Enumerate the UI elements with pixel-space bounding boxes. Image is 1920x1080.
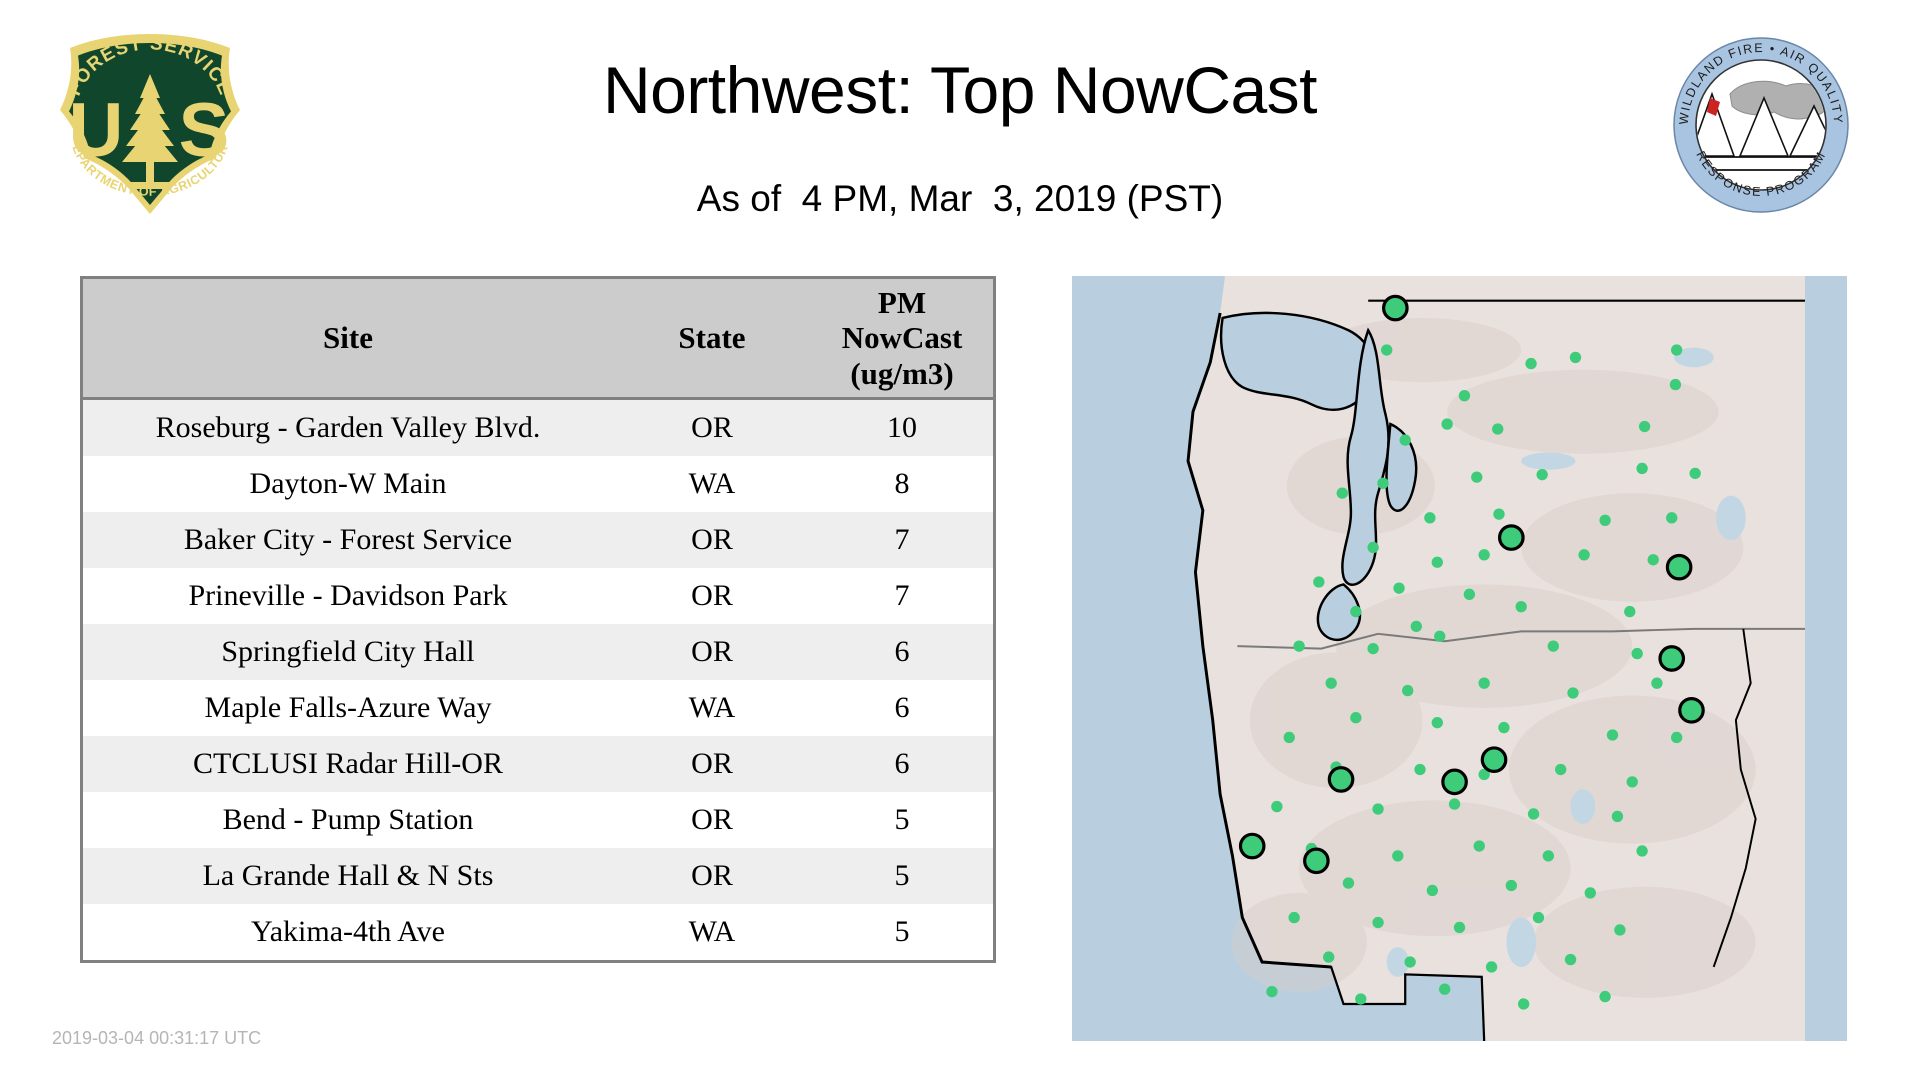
- map-monitor-dot: [1498, 722, 1509, 733]
- map-monitor-dot: [1381, 344, 1392, 355]
- cell-site: CTCLUSI Radar Hill-OR: [83, 736, 613, 792]
- map-monitor-dot: [1493, 508, 1504, 519]
- map-monitor-dot: [1434, 631, 1445, 642]
- map-monitor-dot: [1636, 463, 1647, 474]
- map-monitor-dot: [1459, 390, 1470, 401]
- cell-pm-nowcast: 5: [811, 848, 993, 904]
- map-monitor-dot: [1337, 487, 1348, 498]
- table-row: Dayton-W MainWA8: [83, 456, 993, 512]
- map-monitor-dot: [1567, 687, 1578, 698]
- map-top-site-marker[interactable]: Bend - Pump Station: [1443, 770, 1466, 793]
- map-top-site-marker[interactable]: Roseburg - Garden Valley Blvd.: [1305, 849, 1328, 872]
- map-monitor-dot: [1612, 811, 1623, 822]
- cell-pm-nowcast: 6: [811, 680, 993, 736]
- map-monitor-dot: [1427, 885, 1438, 896]
- map-monitor-dot: [1518, 998, 1529, 1009]
- map-top-site-marker[interactable]: La Grande Hall & N Sts: [1660, 647, 1683, 670]
- map-monitor-dot: [1367, 643, 1378, 654]
- map-monitor-dot: [1372, 803, 1383, 814]
- northwest-monitor-map: Maple Falls-Azure WayYakima-4th AveDayto…: [1072, 276, 1847, 1041]
- map-monitor-dot: [1288, 912, 1299, 923]
- map-monitor-dot: [1525, 358, 1536, 369]
- map-monitor-dot: [1284, 732, 1295, 743]
- map-monitor-dot: [1599, 991, 1610, 1002]
- table-row: Bend - Pump StationOR5: [83, 792, 993, 848]
- cell-state: WA: [613, 680, 811, 736]
- map-top-site-marker[interactable]: Springfield City Hall: [1329, 768, 1352, 791]
- map-monitor-dot: [1464, 589, 1475, 600]
- cell-site: Dayton-W Main: [83, 456, 613, 512]
- table-header-row: Site State PM NowCast (ug/m3): [83, 279, 993, 399]
- map-monitor-dot: [1402, 685, 1413, 696]
- cell-state: WA: [613, 456, 811, 512]
- page-title: Northwest: Top NowCast: [300, 52, 1620, 128]
- cell-state: WA: [613, 904, 811, 960]
- map-monitor-dot: [1666, 512, 1677, 523]
- map-monitor-dot: [1350, 712, 1361, 723]
- map-monitor-dot: [1565, 954, 1576, 965]
- cell-site: Baker City - Forest Service: [83, 512, 613, 568]
- cell-state: OR: [613, 399, 811, 457]
- cell-state: OR: [613, 848, 811, 904]
- map-monitor-dot: [1670, 379, 1681, 390]
- table-header: Site State PM NowCast (ug/m3): [83, 279, 993, 399]
- cell-site: La Grande Hall & N Sts: [83, 848, 613, 904]
- cell-pm-nowcast: 5: [811, 904, 993, 960]
- map-monitor-dot: [1432, 557, 1443, 568]
- column-header-pm-nowcast: PM NowCast (ug/m3): [811, 279, 993, 399]
- map-monitor-dot: [1424, 512, 1435, 523]
- map-top-site-marker[interactable]: Maple Falls-Azure Way: [1384, 296, 1407, 319]
- map-monitor-dot: [1454, 922, 1465, 933]
- cell-site: Roseburg - Garden Valley Blvd.: [83, 399, 613, 457]
- map-monitor-dot: [1313, 576, 1324, 587]
- map-monitor-dot: [1536, 469, 1547, 480]
- map-monitor-dot: [1414, 764, 1425, 775]
- map-top-site-marker[interactable]: Baker City - Forest Service: [1680, 699, 1703, 722]
- top-nowcast-table-panel: Site State PM NowCast (ug/m3) Roseburg -…: [80, 276, 996, 963]
- cell-state: OR: [613, 792, 811, 848]
- map-monitor-dot: [1392, 850, 1403, 861]
- table-row: Maple Falls-Azure WayWA6: [83, 680, 993, 736]
- map-monitor-dot: [1516, 601, 1527, 612]
- map-top-site-marker[interactable]: CTCLUSI Radar Hill-OR: [1240, 834, 1263, 857]
- map-monitor-dot: [1293, 640, 1304, 651]
- map-monitor-dot: [1271, 801, 1282, 812]
- map-monitor-dot: [1474, 840, 1485, 851]
- map-monitor-dot: [1471, 471, 1482, 482]
- column-header-pm-line3: (ug/m3): [811, 356, 993, 391]
- cell-site: Maple Falls-Azure Way: [83, 680, 613, 736]
- map-monitor-dot: [1372, 917, 1383, 928]
- cell-pm-nowcast: 8: [811, 456, 993, 512]
- map-monitor-dot: [1486, 961, 1497, 972]
- table-row: CTCLUSI Radar Hill-OROR6: [83, 736, 993, 792]
- map-monitor-dot: [1671, 344, 1682, 355]
- map-monitor-dot: [1367, 542, 1378, 553]
- map-monitor-dot: [1651, 678, 1662, 689]
- map-monitor-dot: [1439, 984, 1450, 995]
- map-monitor-dot: [1350, 606, 1361, 617]
- map-monitor-dot: [1671, 732, 1682, 743]
- map-monitor-dot: [1355, 993, 1366, 1004]
- map-monitor-dot: [1555, 764, 1566, 775]
- map-top-site-marker[interactable]: Yakima-4th Ave: [1500, 526, 1523, 549]
- cell-state: OR: [613, 568, 811, 624]
- map-monitor-dot: [1404, 956, 1415, 967]
- map-monitor-dot: [1411, 621, 1422, 632]
- page-subtitle: As of 4 PM, Mar 3, 2019 (PST): [300, 178, 1620, 220]
- map-monitor-dot: [1479, 549, 1490, 560]
- map-monitor-dot: [1400, 434, 1411, 445]
- cell-pm-nowcast: 10: [811, 399, 993, 457]
- map-top-site-marker[interactable]: Prineville - Davidson Park: [1482, 748, 1505, 771]
- map-monitor-dot: [1639, 421, 1650, 432]
- cell-state: OR: [613, 736, 811, 792]
- cell-pm-nowcast: 6: [811, 736, 993, 792]
- map-monitor-dot: [1533, 912, 1544, 923]
- map-monitor-dot: [1479, 678, 1490, 689]
- column-header-pm-line2: NowCast: [811, 320, 993, 355]
- map-monitor-dot: [1449, 798, 1460, 809]
- map-monitor-dot: [1607, 729, 1618, 740]
- cell-state: OR: [613, 512, 811, 568]
- table-row: Yakima-4th AveWA5: [83, 904, 993, 960]
- map-monitor-dot: [1441, 418, 1452, 429]
- map-monitor-dot: [1689, 468, 1700, 479]
- cell-pm-nowcast: 5: [811, 792, 993, 848]
- cell-state: OR: [613, 624, 811, 680]
- table-row: Baker City - Forest ServiceOR7: [83, 512, 993, 568]
- column-header-site: Site: [83, 279, 613, 399]
- cell-pm-nowcast: 7: [811, 512, 993, 568]
- map-monitor-dot: [1624, 606, 1635, 617]
- wildland-fire-air-quality-seal-icon: WILDLAND FIRE • AIR QUALITY RESPONSE PRO…: [1672, 36, 1850, 214]
- map-monitor-dot: [1543, 850, 1554, 861]
- map-monitor-dot: [1377, 478, 1388, 489]
- table-row: Prineville - Davidson ParkOR7: [83, 568, 993, 624]
- map-monitor-dot: [1492, 423, 1503, 434]
- map-monitor-dot: [1614, 924, 1625, 935]
- column-header-state: State: [613, 279, 811, 399]
- map-monitor-dot: [1343, 877, 1354, 888]
- cell-site: Springfield City Hall: [83, 624, 613, 680]
- map-monitor-dot: [1632, 648, 1643, 659]
- map-monitor-dot: [1599, 515, 1610, 526]
- map-monitor-dot: [1432, 717, 1443, 728]
- footer-timestamp: 2019-03-04 00:31:17 UTC: [52, 1028, 261, 1049]
- header: FOREST SERVICE U S DEPARTMENT OF AGRICUL…: [0, 0, 1920, 270]
- cell-pm-nowcast: 7: [811, 568, 993, 624]
- table-row: Springfield City HallOR6: [83, 624, 993, 680]
- table-row: La Grande Hall & N StsOR5: [83, 848, 993, 904]
- map-monitor-dot: [1627, 776, 1638, 787]
- map-monitor-dot: [1548, 640, 1559, 651]
- cell-site: Bend - Pump Station: [83, 792, 613, 848]
- top-nowcast-table: Site State PM NowCast (ug/m3) Roseburg -…: [83, 279, 993, 960]
- map-monitor-dot: [1578, 549, 1589, 560]
- map-monitor-dot: [1506, 880, 1517, 891]
- map-top-site-marker[interactable]: Dayton-W Main: [1667, 555, 1690, 578]
- us-forest-service-shield-icon: FOREST SERVICE U S DEPARTMENT OF AGRICUL…: [50, 28, 250, 218]
- table-body: Roseburg - Garden Valley Blvd.OR10Dayton…: [83, 399, 993, 961]
- map-monitor-dot: [1326, 678, 1337, 689]
- map-monitor-dot: [1648, 554, 1659, 565]
- cell-pm-nowcast: 6: [811, 624, 993, 680]
- map-monitor-dot: [1323, 951, 1334, 962]
- map-monitor-dot: [1266, 986, 1277, 997]
- table-row: Roseburg - Garden Valley Blvd.OR10: [83, 399, 993, 457]
- cell-site: Prineville - Davidson Park: [83, 568, 613, 624]
- map-monitor-dot: [1585, 887, 1596, 898]
- cell-site: Yakima-4th Ave: [83, 904, 613, 960]
- map-monitor-dot: [1570, 352, 1581, 363]
- map-monitor-dot: [1393, 582, 1404, 593]
- map-monitor-dot: [1528, 808, 1539, 819]
- map-monitor-dot: [1636, 845, 1647, 856]
- column-header-pm-line1: PM: [811, 285, 993, 320]
